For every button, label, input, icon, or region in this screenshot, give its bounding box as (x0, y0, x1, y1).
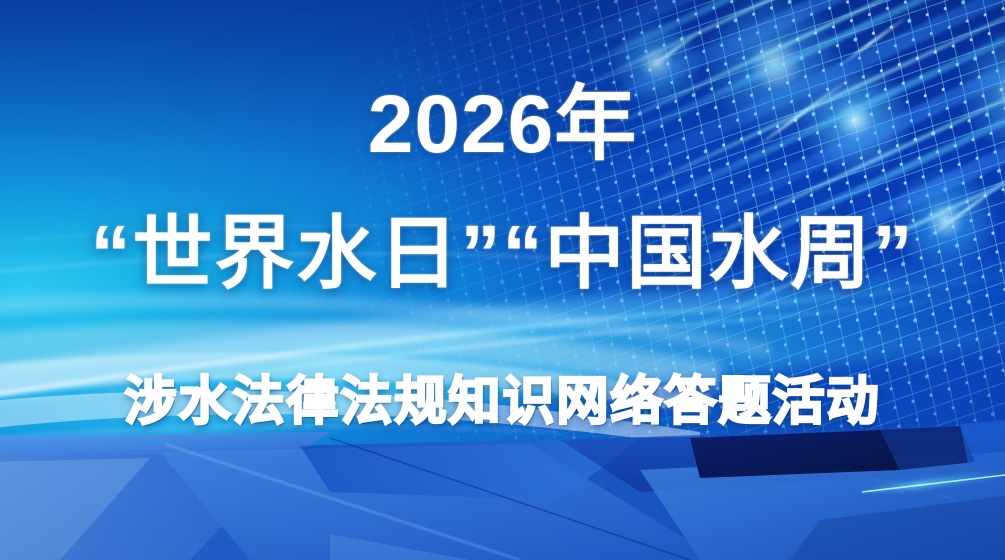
poster-main-title: “世界水日”“中国水周” (0, 208, 1005, 300)
poster-text-block: 2026年 “世界水日”“中国水周” 涉水法律法规知识网络答题活动 (0, 0, 1005, 560)
poster-subtitle: 涉水法律法规知识网络答题活动 (0, 372, 1005, 434)
poster-canvas: 2026年 “世界水日”“中国水周” 涉水法律法规知识网络答题活动 (0, 0, 1005, 560)
poster-year-line: 2026年 (0, 84, 1005, 166)
